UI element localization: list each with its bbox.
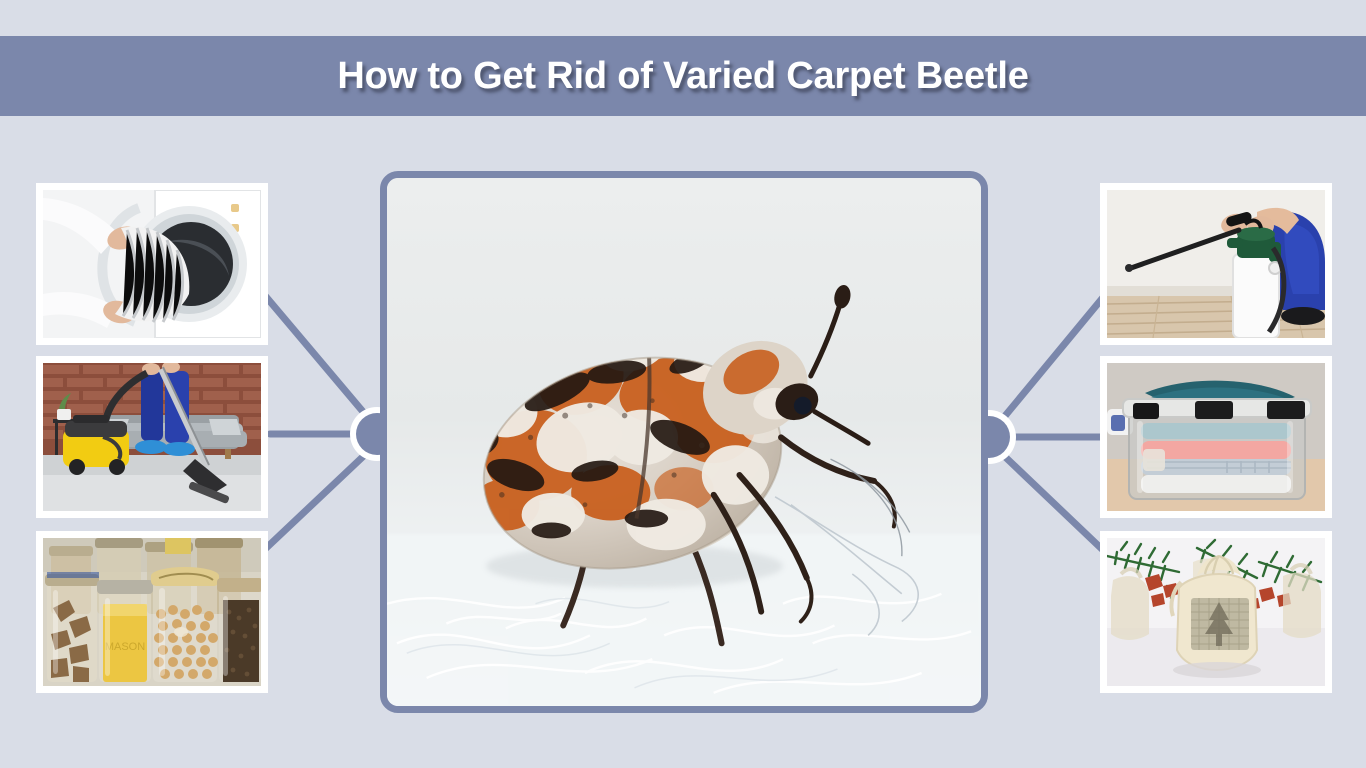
left-card-store-dry-goods[interactable]: MASON <box>36 531 268 693</box>
right-card-cedar-sachets[interactable] <box>1100 531 1332 693</box>
varied-carpet-beetle-photo <box>387 178 981 707</box>
connector-left-1 <box>262 292 370 420</box>
connector-left-3 <box>262 450 370 552</box>
connector-right-1 <box>1000 295 1105 422</box>
airtight-storage-image <box>1107 363 1325 511</box>
right-card-airtight-storage[interactable] <box>1100 356 1332 518</box>
vacuum-carpets-image <box>43 363 261 511</box>
cedar-sachets-image <box>1107 538 1325 686</box>
right-card-insecticide-spray[interactable] <box>1100 183 1332 345</box>
infographic-canvas: How to Get Rid of Varied Carpet Beetle <box>0 0 1366 768</box>
svg-text:MASON: MASON <box>105 641 145 653</box>
center-image-frame <box>380 171 988 713</box>
left-card-wash-fabrics[interactable] <box>36 183 268 345</box>
connector-right-3 <box>1000 452 1105 552</box>
left-card-vacuum-carpets[interactable] <box>36 356 268 518</box>
wash-fabrics-image <box>43 190 261 338</box>
store-dry-goods-image: MASON <box>43 538 261 686</box>
insecticide-spray-image <box>1107 190 1325 338</box>
